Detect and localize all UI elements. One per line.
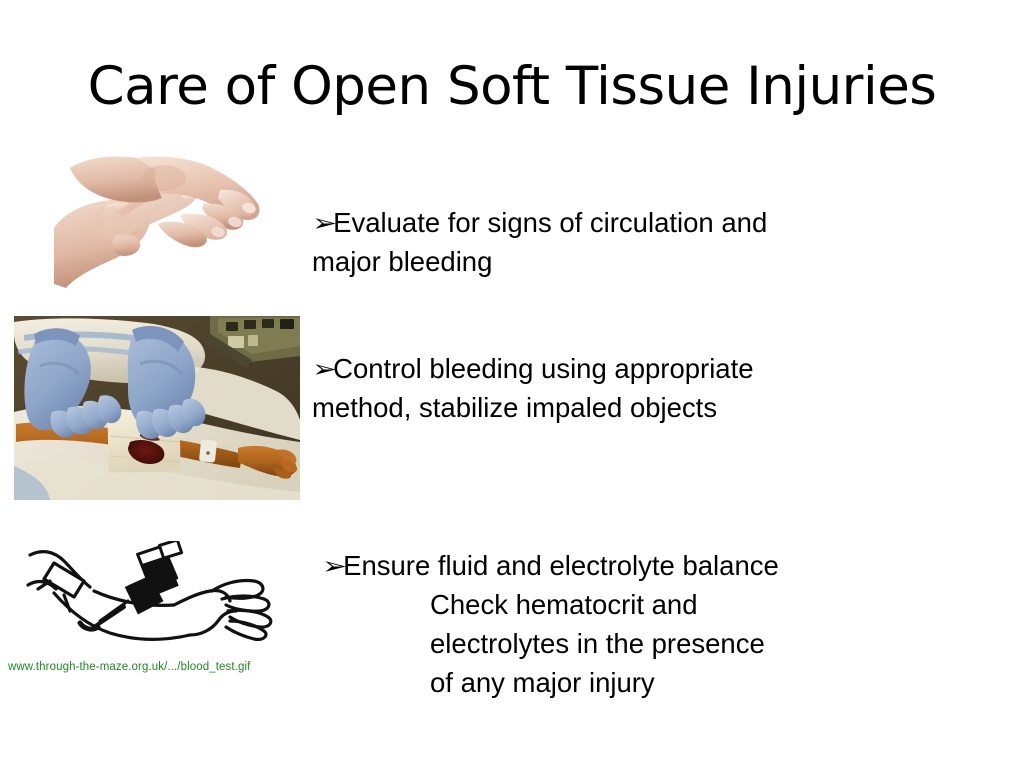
bullet-line: ➢Ensure fluid and electrolyte balance: [322, 546, 942, 585]
bullet-item-1: ➢Evaluate for signs of circulation and m…: [312, 203, 912, 281]
bullet-subline: Check hematocrit and: [322, 585, 942, 624]
bullet-subline: electrolytes in the presence: [322, 624, 942, 663]
bullet-line: method, stabilize impaled objects: [312, 388, 912, 427]
blood-draw-illustration: [24, 541, 280, 653]
blood-draw-svg: [24, 541, 280, 653]
bullet-text: major bleeding: [312, 246, 492, 277]
chevron-right-bullet-icon: ➢: [322, 554, 347, 578]
bullet-line: ➢Control bleeding using appropriate: [312, 349, 912, 388]
bullet-text: Evaluate for signs of circulation and: [333, 207, 767, 238]
image-source-caption: www.through-the-maze.org.uk/.../blood_te…: [8, 661, 250, 673]
bullet-text: method, stabilize impaled objects: [312, 392, 717, 423]
bullet-line: major bleeding: [312, 242, 912, 281]
bleeding-control-svg: [14, 316, 300, 500]
slide-canvas: Care of Open Soft Tissue Injuries: [0, 0, 1024, 768]
bullet-line: ➢Evaluate for signs of circulation and: [312, 203, 912, 242]
bullet-text: Ensure fluid and electrolyte balance: [343, 550, 779, 581]
chevron-right-bullet-icon: ➢: [312, 357, 337, 381]
bullet-subline: of any major injury: [322, 663, 942, 702]
pulse-check-svg: [52, 132, 264, 294]
bullet-item-2: ➢Control bleeding using appropriate meth…: [312, 349, 912, 427]
syringe: [94, 541, 183, 627]
page-title: Care of Open Soft Tissue Injuries: [0, 58, 1024, 116]
bullet-item-3: ➢Ensure fluid and electrolyte balance Ch…: [322, 546, 942, 702]
bullet-text: Control bleeding using appropriate: [333, 353, 753, 384]
tourniquet-band: [38, 563, 84, 611]
chevron-right-bullet-icon: ➢: [312, 211, 337, 235]
bleeding-control-photo: [14, 316, 300, 500]
pulse-check-illustration: [52, 132, 264, 294]
